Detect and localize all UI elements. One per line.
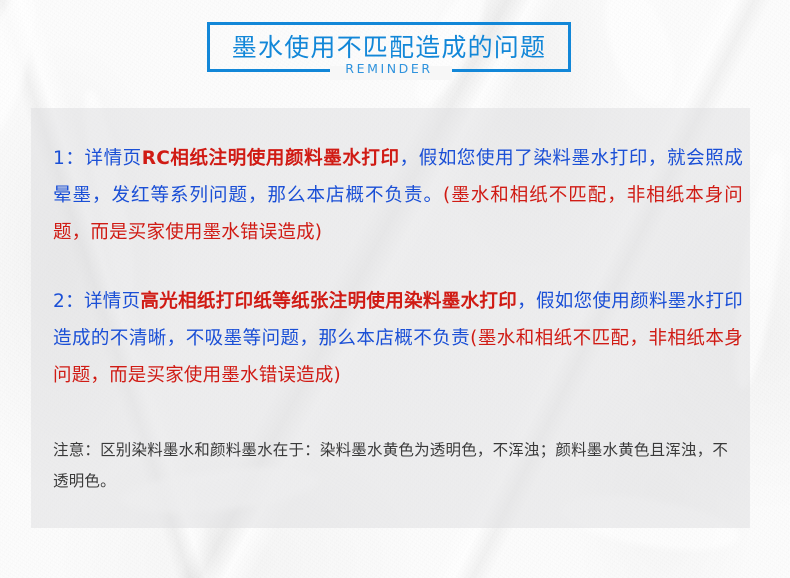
notice-item-2-emphasis: 高光相纸打印纸等纸张注明使用染料墨水打印 bbox=[140, 291, 517, 312]
page-title: 墨水使用不匹配造成的问题 bbox=[232, 35, 546, 60]
notice-item-2-lead: 详情页 bbox=[84, 291, 141, 312]
notice-item-1-emphasis: RC相纸注明使用颜料墨水打印 bbox=[142, 148, 400, 169]
notice-text-area: 1：详情页RC相纸注明使用颜料墨水打印，假如您使用了染料墨水打印，就会照成晕墨，… bbox=[53, 140, 743, 394]
notice-item-1-lead: 详情页 bbox=[84, 148, 141, 169]
notice-item-2: 2：详情页高光相纸打印纸等纸张注明使用染料墨水打印，假如您使用颜料墨水打印造成的… bbox=[53, 283, 743, 394]
notice-item-1-index: 1： bbox=[53, 148, 84, 169]
notice-item-1: 1：详情页RC相纸注明使用颜料墨水打印，假如您使用了染料墨水打印，就会照成晕墨，… bbox=[53, 140, 743, 251]
title-subtitle: REMINDER bbox=[207, 63, 571, 76]
notice-item-2-index: 2： bbox=[53, 291, 84, 312]
notice-footnote: 注意：区别染料墨水和颜料墨水在于：染料墨水黄色为透明色，不浑浊；颜料墨水黄色且浑… bbox=[53, 435, 743, 497]
